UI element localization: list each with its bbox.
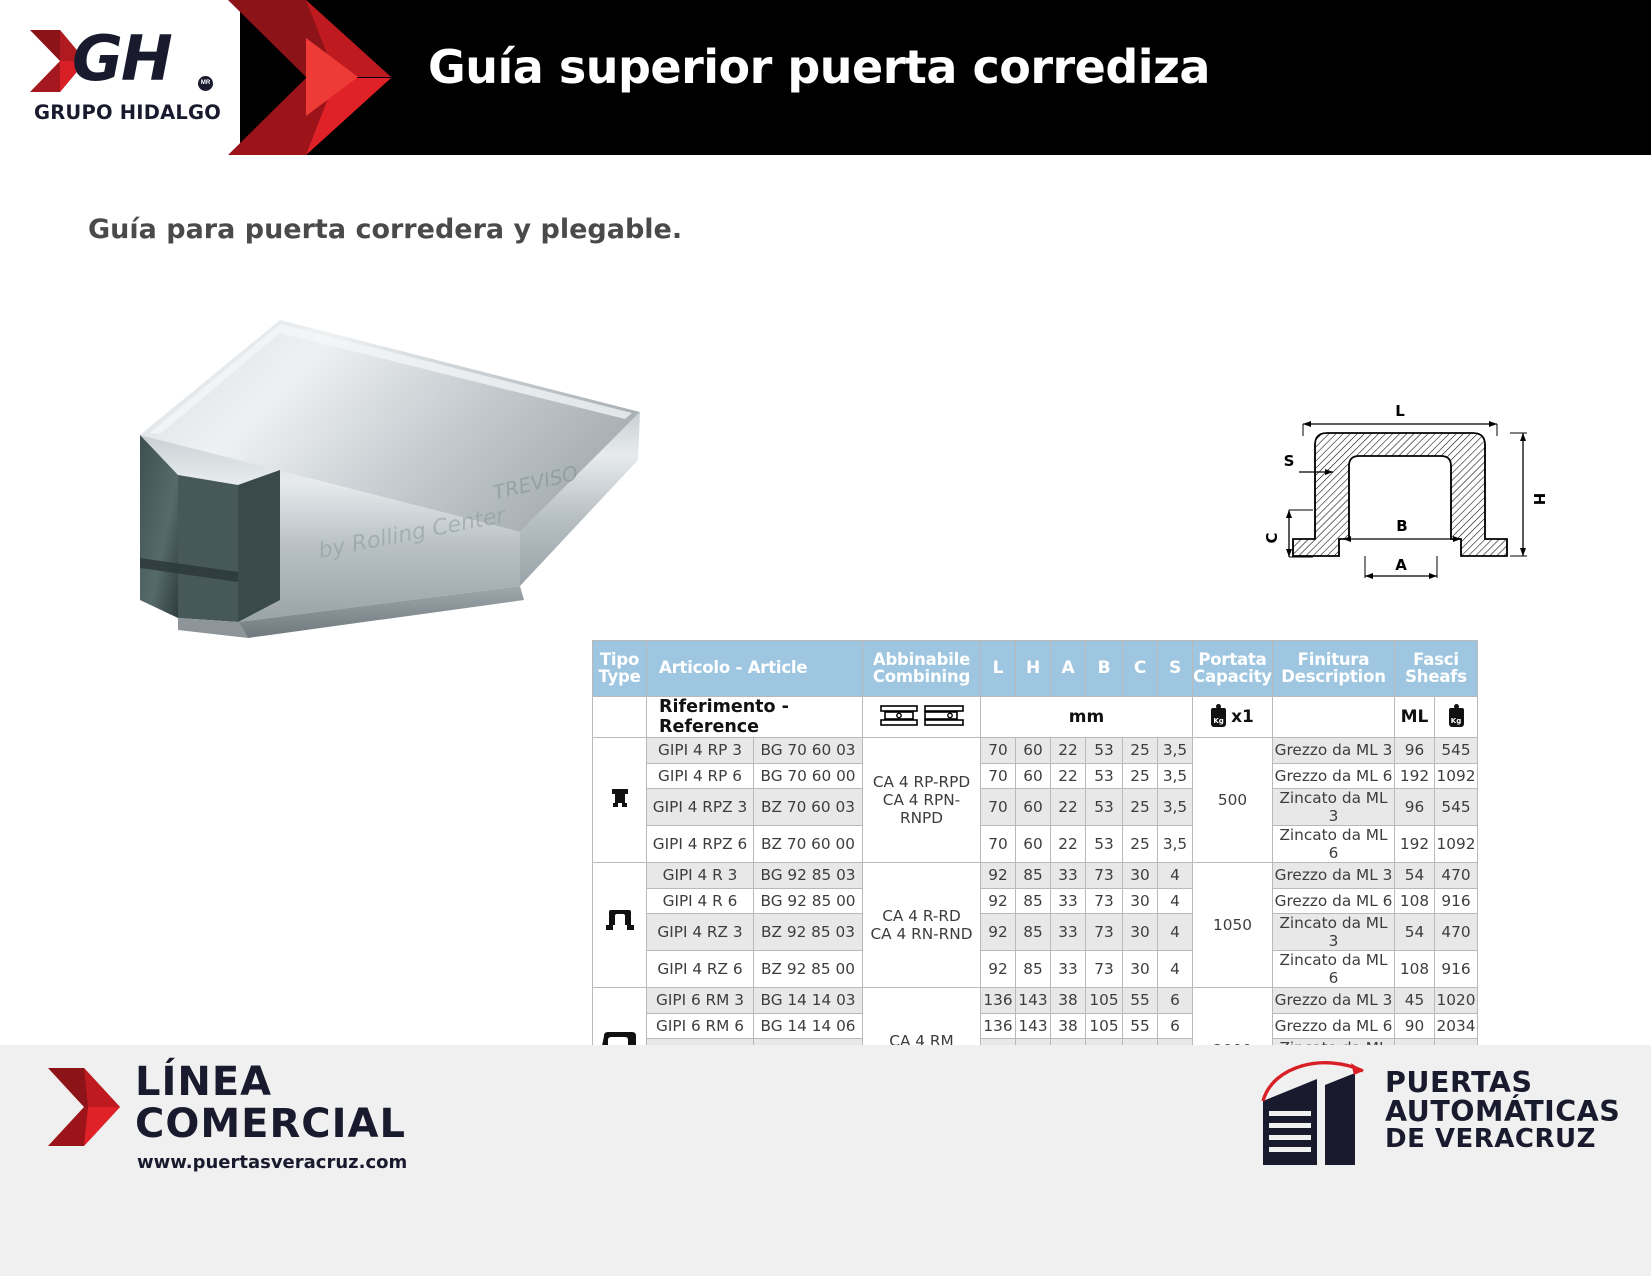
cell-L: 136 [981, 1013, 1016, 1039]
cell-articolo: GIPI 4 R 6 [647, 888, 754, 914]
company-name: GRUPO HIDALGO [34, 101, 221, 124]
cell-C: 55 [1123, 988, 1158, 1014]
diagram-label-S: S [1284, 452, 1295, 470]
cell-H: 143 [1016, 988, 1051, 1014]
pav-brand-text: PUERTAS AUTOMÁTICAS DE VERACRUZ [1385, 1068, 1620, 1153]
table-row: GIPI 4 RPZ 6BZ 70 60 0070602253253,5Zinc… [593, 826, 1478, 863]
pav-logo-icon [1255, 1055, 1380, 1173]
subheader-mm: mm [981, 697, 1193, 738]
cell-L: 92 [981, 951, 1016, 988]
cell-articolo: GIPI 4 RPZ 3 [647, 789, 754, 826]
col-header-abbinabile-line1: Abbinabile [863, 652, 980, 669]
cell-H: 85 [1016, 951, 1051, 988]
profile-medium-icon [606, 924, 634, 942]
cell-A: 22 [1051, 763, 1086, 789]
cell-riferimento: BG 14 14 06 [754, 1013, 863, 1039]
cell-S: 3,5 [1158, 763, 1193, 789]
col-header-H: H [1016, 641, 1051, 697]
cell-C: 30 [1123, 888, 1158, 914]
cell-C: 25 [1123, 763, 1158, 789]
weight-kg-icon: Kg [1211, 708, 1226, 727]
cell-riferimento: BG 92 85 03 [754, 863, 863, 889]
cell-riferimento: BG 14 14 03 [754, 988, 863, 1014]
cell-L: 92 [981, 914, 1016, 951]
cell-abbinabile: CA 4 RP-RPDCA 4 RPN-RNPD [863, 738, 981, 863]
cell-riferimento: BZ 70 60 00 [754, 826, 863, 863]
table-row: GIPI 4 RZ 3BZ 92 85 0392853373304Zincato… [593, 914, 1478, 951]
cell-S: 4 [1158, 914, 1193, 951]
table-row: GIPI 4 RP 6BG 70 60 0070602253253,5Grezz… [593, 763, 1478, 789]
cell-finitura: Grezzo da ML 6 [1273, 888, 1395, 914]
cell-ml: 90 [1395, 1013, 1435, 1039]
cell-finitura: Zincato da ML 3 [1273, 914, 1395, 951]
subheader-capacity-unit: Kgx1 [1193, 697, 1273, 738]
col-header-B: B [1086, 641, 1123, 697]
cell-articolo: GIPI 4 RPZ 6 [647, 826, 754, 863]
cell-kg: 1092 [1435, 763, 1478, 789]
diagram-label-H: H [1530, 493, 1545, 506]
cell-A: 33 [1051, 951, 1086, 988]
gh-logo: GH MR GRUPO HIDALGO [30, 18, 235, 138]
subheader-riferimento: Riferimento - Reference [647, 697, 863, 738]
table-row: GIPI 6 RM 6BG 14 14 0613614338105556Grez… [593, 1013, 1478, 1039]
diagram-label-B: B [1396, 517, 1407, 535]
page-header: GH MR GRUPO HIDALGO Guía superior puerta… [0, 0, 1651, 155]
cell-abbinabile: CA 4 R-RDCA 4 RN-RND [863, 863, 981, 988]
cell-riferimento: BZ 92 85 00 [754, 951, 863, 988]
col-header-portata: Portata Capacity [1193, 641, 1273, 697]
cell-B: 53 [1086, 826, 1123, 863]
col-header-S: S [1158, 641, 1193, 697]
profile-small-icon [609, 796, 631, 814]
technical-diagram: L H S C B A [1255, 380, 1545, 610]
cell-articolo: GIPI 4 RP 3 [647, 738, 754, 764]
col-header-L: L [981, 641, 1016, 697]
col-header-articolo: Articolo - Article [647, 641, 863, 697]
datasheet-page: GH MR GRUPO HIDALGO Guía superior puerta… [0, 0, 1651, 1276]
cell-kg: 545 [1435, 738, 1478, 764]
footer-line-1: LÍNEA [135, 1062, 272, 1102]
cell-riferimento: BG 70 60 00 [754, 763, 863, 789]
row-type-icon-cell [593, 738, 647, 863]
footer-arrow-icon [48, 1068, 120, 1146]
table-row: GIPI 4 RZ 6BZ 92 85 0092853373304Zincato… [593, 951, 1478, 988]
cell-finitura: Zincato da ML 3 [1273, 789, 1395, 826]
cell-H: 60 [1016, 763, 1051, 789]
cell-L: 92 [981, 888, 1016, 914]
cell-A: 22 [1051, 738, 1086, 764]
subheader-ml: ML [1395, 697, 1435, 738]
pav-brand-line2: AUTOMÁTICAS [1385, 1097, 1620, 1126]
cell-H: 60 [1016, 738, 1051, 764]
cell-articolo: GIPI 6 RM 6 [647, 1013, 754, 1039]
cell-L: 70 [981, 789, 1016, 826]
cell-C: 30 [1123, 863, 1158, 889]
cell-L: 136 [981, 988, 1016, 1014]
cell-A: 22 [1051, 826, 1086, 863]
abbinabile-line: CA 4 RP-RPD [863, 773, 980, 791]
col-header-fasci-line2: Sheafs [1395, 669, 1477, 686]
table-row: GIPI 4 RPZ 3BZ 70 60 0370602253253,5Zinc… [593, 789, 1478, 826]
cell-S: 3,5 [1158, 789, 1193, 826]
cell-kg: 916 [1435, 951, 1478, 988]
cell-L: 70 [981, 738, 1016, 764]
cell-ml: 96 [1395, 738, 1435, 764]
capacity-multiplier: x1 [1231, 707, 1254, 727]
cell-riferimento: BZ 70 60 03 [754, 789, 863, 826]
cell-B: 105 [1086, 1013, 1123, 1039]
cell-articolo: GIPI 4 RZ 6 [647, 951, 754, 988]
cell-L: 70 [981, 763, 1016, 789]
cell-riferimento: BZ 92 85 03 [754, 914, 863, 951]
cell-B: 73 [1086, 951, 1123, 988]
cell-portata: 500 [1193, 738, 1273, 863]
cell-riferimento: BG 70 60 03 [754, 738, 863, 764]
cell-portata: 1050 [1193, 863, 1273, 988]
cell-ml: 192 [1395, 763, 1435, 789]
cell-S: 3,5 [1158, 826, 1193, 863]
cell-B: 53 [1086, 789, 1123, 826]
table-header-row: Tipo Type Articolo - Article Abbinabile … [593, 641, 1478, 697]
cell-A: 33 [1051, 888, 1086, 914]
subheader-kg-icon-cell: Kg [1435, 697, 1478, 738]
table-row: GIPI 4 R 3BG 92 85 03CA 4 R-RDCA 4 RN-RN… [593, 863, 1478, 889]
footer-line-2: COMERCIAL [135, 1104, 406, 1144]
cell-S: 4 [1158, 888, 1193, 914]
col-header-portata-line1: Portata [1193, 652, 1272, 669]
diagram-label-L: L [1395, 402, 1405, 420]
cell-B: 73 [1086, 914, 1123, 951]
col-header-finitura-line1: Finitura [1273, 652, 1394, 669]
cell-kg: 1092 [1435, 826, 1478, 863]
table-row: GIPI 6 RM 3BG 14 14 03CA 4 RMCA 4 RMD136… [593, 988, 1478, 1014]
cell-finitura: Grezzo da ML 3 [1273, 738, 1395, 764]
cell-A: 33 [1051, 863, 1086, 889]
cell-kg: 470 [1435, 863, 1478, 889]
rail-coupling-icon [879, 704, 965, 726]
diagram-label-A: A [1395, 556, 1407, 574]
cell-S: 4 [1158, 863, 1193, 889]
cell-H: 143 [1016, 1013, 1051, 1039]
footer-website-url[interactable]: www.puertasveracruz.com [137, 1152, 407, 1173]
trademark-icon: MR [198, 76, 213, 91]
cell-kg: 2034 [1435, 1013, 1478, 1039]
cell-finitura: Grezzo da ML 3 [1273, 863, 1395, 889]
table-header: Tipo Type Articolo - Article Abbinabile … [593, 641, 1478, 738]
cell-articolo: GIPI 4 R 3 [647, 863, 754, 889]
cell-C: 55 [1123, 1013, 1158, 1039]
product-photo: by Rolling Center TREVISO [120, 300, 660, 660]
col-header-portata-line2: Capacity [1193, 669, 1272, 686]
cell-ml: 192 [1395, 826, 1435, 863]
cell-riferimento: BG 92 85 00 [754, 888, 863, 914]
col-header-C: C [1123, 641, 1158, 697]
cell-L: 92 [981, 863, 1016, 889]
cell-A: 38 [1051, 988, 1086, 1014]
table-row: GIPI 4 R 6BG 92 85 0092853373304Grezzo d… [593, 888, 1478, 914]
cell-ml: 54 [1395, 914, 1435, 951]
cell-C: 25 [1123, 738, 1158, 764]
cell-B: 73 [1086, 863, 1123, 889]
cell-C: 30 [1123, 914, 1158, 951]
cell-ml: 54 [1395, 863, 1435, 889]
cell-S: 3,5 [1158, 738, 1193, 764]
cell-A: 22 [1051, 789, 1086, 826]
col-header-A: A [1051, 641, 1086, 697]
col-header-abbinabile: Abbinabile Combining [863, 641, 981, 697]
subheader-tipo-empty [593, 697, 647, 738]
cell-H: 85 [1016, 863, 1051, 889]
col-header-tipo-line2: Type [593, 669, 646, 686]
cell-H: 85 [1016, 914, 1051, 951]
cell-B: 53 [1086, 738, 1123, 764]
cell-S: 6 [1158, 1013, 1193, 1039]
weight-kg-icon: Kg [1449, 708, 1464, 727]
col-header-finitura-line2: Description [1273, 669, 1394, 686]
subtitle: Guía para puerta corredera y plegable. [88, 214, 682, 245]
specification-table: Tipo Type Articolo - Article Abbinabile … [592, 640, 1478, 1113]
cell-finitura: Grezzo da ML 6 [1273, 763, 1395, 789]
cell-ml: 108 [1395, 888, 1435, 914]
abbinabile-line: CA 4 RPN-RNPD [863, 791, 980, 827]
cell-H: 85 [1016, 888, 1051, 914]
page-title: Guía superior puerta corrediza [428, 40, 1210, 94]
col-header-tipo-line1: Tipo [593, 652, 646, 669]
cell-articolo: GIPI 6 RM 3 [647, 988, 754, 1014]
cell-C: 30 [1123, 951, 1158, 988]
cell-H: 60 [1016, 789, 1051, 826]
cell-C: 25 [1123, 826, 1158, 863]
cell-L: 70 [981, 826, 1016, 863]
cell-A: 33 [1051, 914, 1086, 951]
col-header-abbinabile-line2: Combining [863, 669, 980, 686]
header-chevron-decoration [228, 0, 403, 155]
pav-brand-line1: PUERTAS [1385, 1068, 1620, 1097]
cell-finitura: Grezzo da ML 6 [1273, 1013, 1395, 1039]
cell-kg: 916 [1435, 888, 1478, 914]
col-header-fasci-line1: Fasci [1395, 652, 1477, 669]
cell-kg: 545 [1435, 789, 1478, 826]
abbinabile-line: CA 4 RN-RND [863, 925, 980, 943]
cell-kg: 470 [1435, 914, 1478, 951]
cell-ml: 96 [1395, 789, 1435, 826]
cell-articolo: GIPI 4 RZ 3 [647, 914, 754, 951]
cell-S: 4 [1158, 951, 1193, 988]
col-header-fasci: Fasci Sheafs [1395, 641, 1478, 697]
col-header-tipo: Tipo Type [593, 641, 647, 697]
subheader-finitura-empty [1273, 697, 1395, 738]
cell-B: 73 [1086, 888, 1123, 914]
pav-brand-line3: DE VERACRUZ [1385, 1126, 1620, 1153]
cell-finitura: Zincato da ML 6 [1273, 826, 1395, 863]
gh-logo-text: GH [72, 22, 171, 95]
col-header-finitura: Finitura Description [1273, 641, 1395, 697]
cell-finitura: Grezzo da ML 3 [1273, 988, 1395, 1014]
cell-ml: 45 [1395, 988, 1435, 1014]
cell-S: 6 [1158, 988, 1193, 1014]
cell-H: 60 [1016, 826, 1051, 863]
diagram-label-C: C [1263, 532, 1281, 543]
table-row: GIPI 4 RP 3BG 70 60 03CA 4 RP-RPDCA 4 RP… [593, 738, 1478, 764]
cell-C: 25 [1123, 789, 1158, 826]
cell-articolo: GIPI 4 RP 6 [647, 763, 754, 789]
cell-kg: 1020 [1435, 988, 1478, 1014]
cell-B: 105 [1086, 988, 1123, 1014]
cell-A: 38 [1051, 1013, 1086, 1039]
subheader-combining-icon-cell [863, 697, 981, 738]
cell-finitura: Zincato da ML 6 [1273, 951, 1395, 988]
cell-B: 53 [1086, 763, 1123, 789]
table-subheader-row: Riferimento - Reference mm Kg [593, 697, 1478, 738]
row-type-icon-cell [593, 863, 647, 988]
cell-ml: 108 [1395, 951, 1435, 988]
abbinabile-line: CA 4 R-RD [863, 907, 980, 925]
